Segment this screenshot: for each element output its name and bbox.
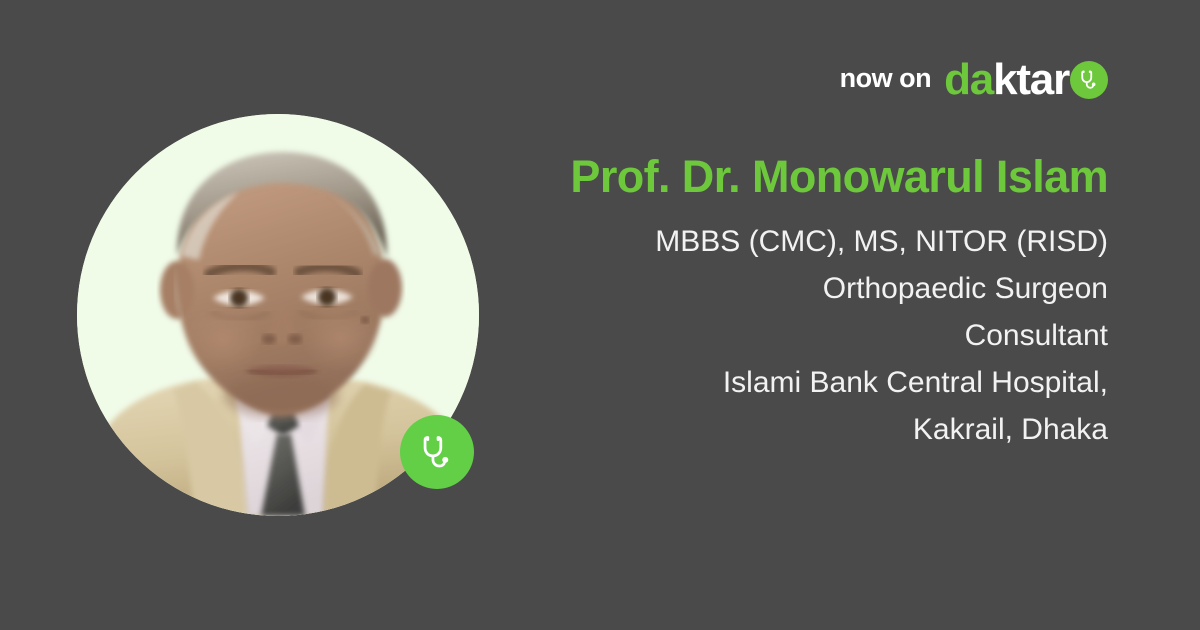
stethoscope-icon (416, 431, 458, 473)
brand-wordmark-white: ktar (993, 58, 1069, 102)
credential-line: MBBS (CMC), MS, NITOR (RISD) (468, 218, 1108, 265)
brand-prefix-label: now on (840, 65, 931, 95)
doctor-profile-card: now on daktar (0, 0, 1200, 630)
credential-line: Consultant (468, 312, 1108, 359)
brand-wordmark-green: da (944, 58, 993, 102)
brand-wordmark: daktar (944, 58, 1108, 102)
doctor-photo (77, 114, 479, 516)
credential-line: Islami Bank Central Hospital, (468, 359, 1108, 406)
credentials-list: MBBS (CMC), MS, NITOR (RISD) Orthopaedic… (468, 218, 1108, 453)
stethoscope-icon (1070, 61, 1108, 99)
credential-line: Kakrail, Dhaka (468, 406, 1108, 453)
doctor-info: Prof. Dr. Monowarul Islam MBBS (CMC), MS… (468, 152, 1108, 453)
stethoscope-badge (400, 415, 474, 489)
page-title: Prof. Dr. Monowarul Islam (468, 152, 1108, 202)
brand-logo[interactable]: now on daktar (840, 58, 1108, 102)
credential-line: Orthopaedic Surgeon (468, 265, 1108, 312)
